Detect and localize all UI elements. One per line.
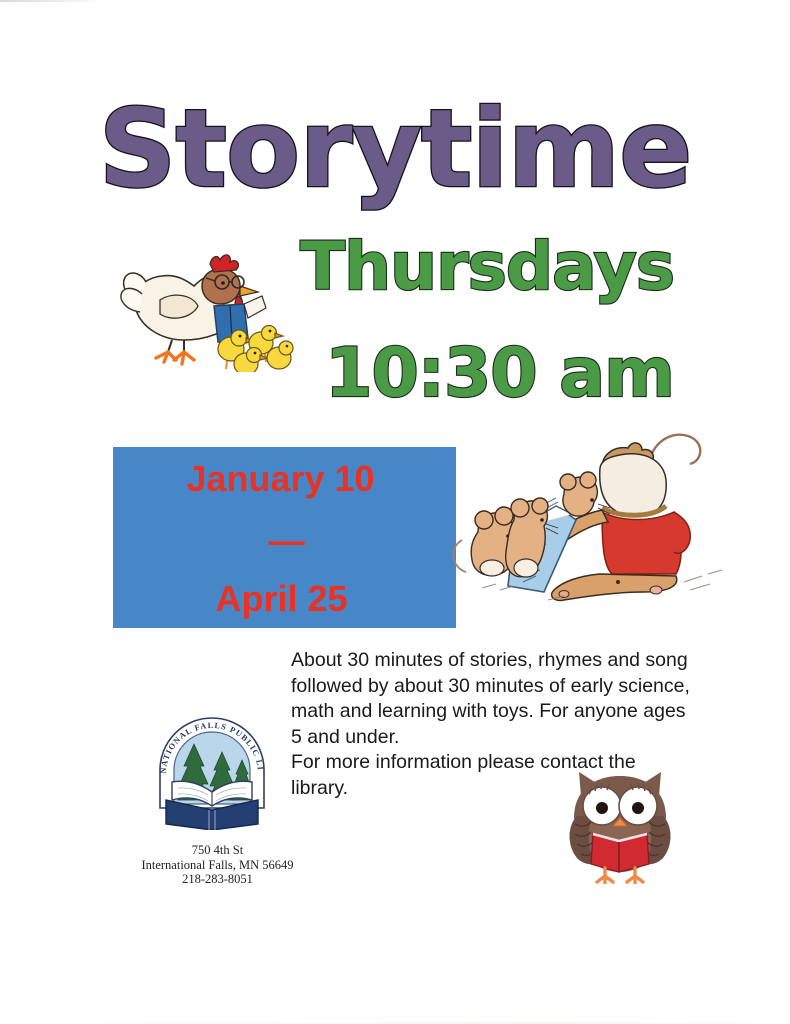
end-date: April 25 — [215, 581, 347, 617]
hen-reading-to-chicks-illustration — [118, 248, 294, 372]
date-separator: — — [269, 523, 305, 559]
scan-edge-top — [0, 0, 100, 2]
library-address: 750 4th St International Falls, MN 56649… — [115, 843, 320, 887]
date-range-panel: January 10 — April 25 — [113, 447, 456, 628]
owl-reading-book-illustration — [557, 762, 683, 884]
start-date: January 10 — [186, 461, 374, 497]
schedule-time: 10:30 am — [325, 340, 674, 408]
mouse-reading-to-mice-illustration — [452, 424, 772, 620]
page-title: Storytime — [0, 96, 790, 204]
date-range-stack: January 10 — April 25 — [113, 447, 456, 628]
flyer-page: Storytime Thursdays 10:30 am — [0, 0, 790, 1024]
library-logo: • INTERNATIONAL FALLS PUBLIC LIBRARY • — [150, 700, 275, 830]
schedule-day: Thursdays — [300, 234, 674, 300]
